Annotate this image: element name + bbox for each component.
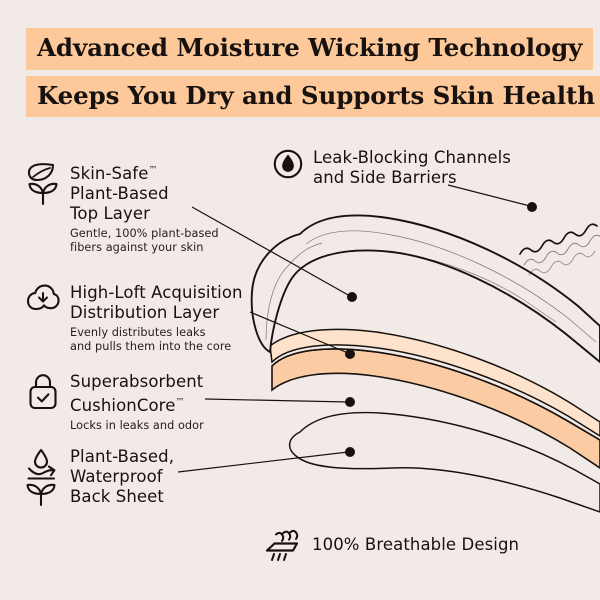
callout-top-layer-sub-1: Gentle, 100% plant-based bbox=[70, 227, 219, 240]
callout-adl-title-1: High-Loft Acquisition bbox=[70, 283, 243, 302]
headline-line-2: Keeps You Dry and Supports Skin Health bbox=[26, 76, 600, 118]
layer-back-sheet bbox=[290, 413, 600, 512]
leader-line-channels bbox=[448, 185, 530, 206]
ruffle-wave-outer bbox=[520, 224, 597, 254]
page-title: Advanced Moisture Wicking Technology Kee… bbox=[0, 28, 600, 117]
core-top-edge bbox=[272, 349, 600, 440]
callout-adl-title-2: Distribution Layer bbox=[70, 303, 219, 322]
ruffle-wave-mid bbox=[524, 235, 600, 265]
leader-dot-core bbox=[345, 397, 355, 407]
callout-core-title-2: CushionCore™ bbox=[70, 396, 184, 415]
callout-channels-title-2: and Side Barriers bbox=[313, 168, 457, 187]
waterproof-plant-icon bbox=[24, 447, 60, 509]
airflow-icon bbox=[263, 525, 303, 565]
layer-top-sheet bbox=[252, 215, 600, 362]
callout-channels-title-1: Leak-Blocking Channels bbox=[313, 148, 511, 167]
leader-dot-back-sheet bbox=[345, 447, 355, 457]
layer-cushion-core bbox=[272, 349, 600, 468]
callout-adl: High-Loft Acquisition Distribution Layer… bbox=[26, 283, 243, 354]
infographic-canvas: Advanced Moisture Wicking Technology Kee… bbox=[0, 0, 600, 600]
callout-top-layer-title-2: Plant-Based bbox=[70, 184, 169, 203]
ruffle-wave-inner bbox=[529, 251, 595, 275]
leader-dot-top-layer bbox=[347, 292, 357, 302]
callout-top-layer-text: Skin-Safe™ Plant-Based Top Layer Gentle,… bbox=[70, 160, 219, 255]
callout-top-layer: Skin-Safe™ Plant-Based Top Layer Gentle,… bbox=[26, 160, 219, 255]
callout-core: Superabsorbent CushionCore™ Locks in lea… bbox=[26, 372, 204, 433]
top-sheet-inner-fold bbox=[266, 243, 322, 340]
callout-top-layer-title-3: Top Layer bbox=[70, 204, 150, 223]
leader-line-adl bbox=[250, 312, 348, 353]
callout-core-text: Superabsorbent CushionCore™ Locks in lea… bbox=[70, 372, 204, 433]
leader-dot-adl bbox=[345, 349, 355, 359]
cloud-down-icon bbox=[26, 283, 60, 315]
callout-back-sheet-title-3: Back Sheet bbox=[70, 487, 164, 506]
leader-line-back-sheet bbox=[178, 452, 348, 472]
leaf-icon bbox=[26, 160, 60, 208]
callout-core-sub-1: Locks in leaks and odor bbox=[70, 419, 204, 432]
callout-breathable: 100% Breathable Design bbox=[263, 525, 519, 565]
droplet-circle-icon bbox=[272, 148, 304, 180]
callout-core-title-1: Superabsorbent bbox=[70, 372, 203, 391]
callout-back-sheet: Plant-Based, Waterproof Back Sheet bbox=[24, 447, 174, 509]
callout-back-sheet-title-1: Plant-Based, bbox=[70, 447, 174, 466]
side-barrier-contour bbox=[392, 252, 556, 322]
callout-back-sheet-title-2: Waterproof bbox=[70, 467, 163, 486]
callout-back-sheet-text: Plant-Based, Waterproof Back Sheet bbox=[70, 447, 174, 507]
callout-breathable-title: 100% Breathable Design bbox=[312, 535, 519, 555]
callout-top-layer-sub-2: fibers against your skin bbox=[70, 241, 204, 254]
lock-check-icon bbox=[26, 372, 60, 414]
callout-adl-sub-2: and pulls them into the core bbox=[70, 340, 231, 353]
callout-channels: Leak-Blocking Channels and Side Barriers bbox=[272, 148, 511, 188]
callout-adl-sub-1: Evenly distributes leaks bbox=[70, 326, 206, 339]
top-sheet-inner-contour bbox=[306, 231, 596, 342]
leader-dot-channels bbox=[527, 202, 537, 212]
callout-adl-text: High-Loft Acquisition Distribution Layer… bbox=[70, 283, 243, 354]
layer-adl bbox=[270, 329, 600, 436]
headline-line-1: Advanced Moisture Wicking Technology bbox=[26, 28, 593, 70]
callout-top-layer-title-1: Skin-Safe™ bbox=[70, 164, 157, 183]
leader-line-core bbox=[205, 399, 348, 402]
callout-channels-text: Leak-Blocking Channels and Side Barriers bbox=[313, 148, 511, 188]
